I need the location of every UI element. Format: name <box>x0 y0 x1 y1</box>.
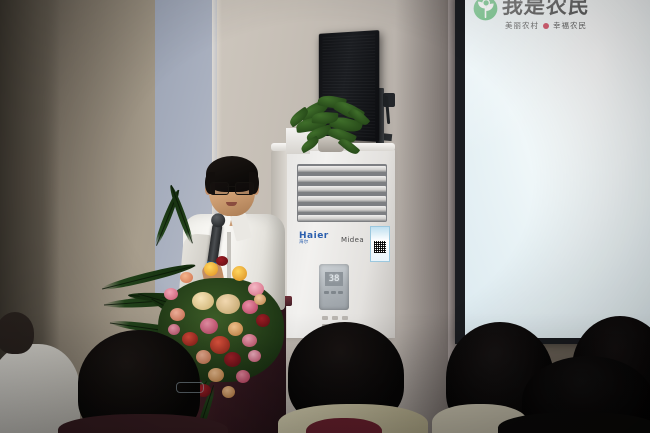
audience-head-left-shirt <box>0 344 80 433</box>
flower <box>170 308 185 321</box>
glasses-lens-right <box>235 182 254 195</box>
slide-content: 我是农民 美丽农村 幸福农民 颐 <box>465 0 650 338</box>
flower <box>228 322 243 336</box>
slide-subtitle-left: 美丽农村 <box>505 20 539 31</box>
energy-label-sticker <box>370 226 390 262</box>
green-sprout-logo-icon <box>473 0 498 21</box>
slide-logo-lockup: 我是农民 美丽农村 幸福农民 <box>473 0 590 31</box>
glasses-bridge <box>227 186 235 187</box>
flower <box>256 314 270 327</box>
flower <box>180 272 193 283</box>
flower <box>182 332 198 346</box>
flower <box>204 262 218 276</box>
slide-subtitle-dot-icon <box>543 23 549 29</box>
glasses-lens-left <box>210 182 229 195</box>
ac-air-vents <box>297 164 387 222</box>
flower <box>164 288 178 300</box>
eyeglasses-icon <box>210 182 254 193</box>
flower <box>224 352 241 367</box>
flower <box>232 266 247 281</box>
flower <box>236 370 250 383</box>
slide-subtitle-right: 幸福农民 <box>553 20 587 31</box>
slide-subtitle: 美丽农村 幸福农民 <box>505 20 587 31</box>
event-photo: 我是农民 美丽农村 幸福农民 颐 Haier <box>0 0 650 433</box>
slide-title: 我是农民 <box>501 0 590 17</box>
flower <box>216 294 240 314</box>
qr-code-icon <box>374 241 386 253</box>
flower <box>216 256 228 266</box>
slide-title-block: 我是农民 美丽农村 幸福农民 <box>502 0 590 31</box>
flower <box>168 324 180 335</box>
flower <box>210 336 230 354</box>
flower <box>254 294 266 305</box>
flower <box>192 292 214 310</box>
flower <box>242 334 257 347</box>
flower <box>208 368 224 382</box>
audience-eyeglasses-icon <box>176 382 204 393</box>
flower <box>196 350 211 364</box>
flower <box>248 350 261 362</box>
flower <box>222 386 235 398</box>
flower <box>200 318 218 334</box>
